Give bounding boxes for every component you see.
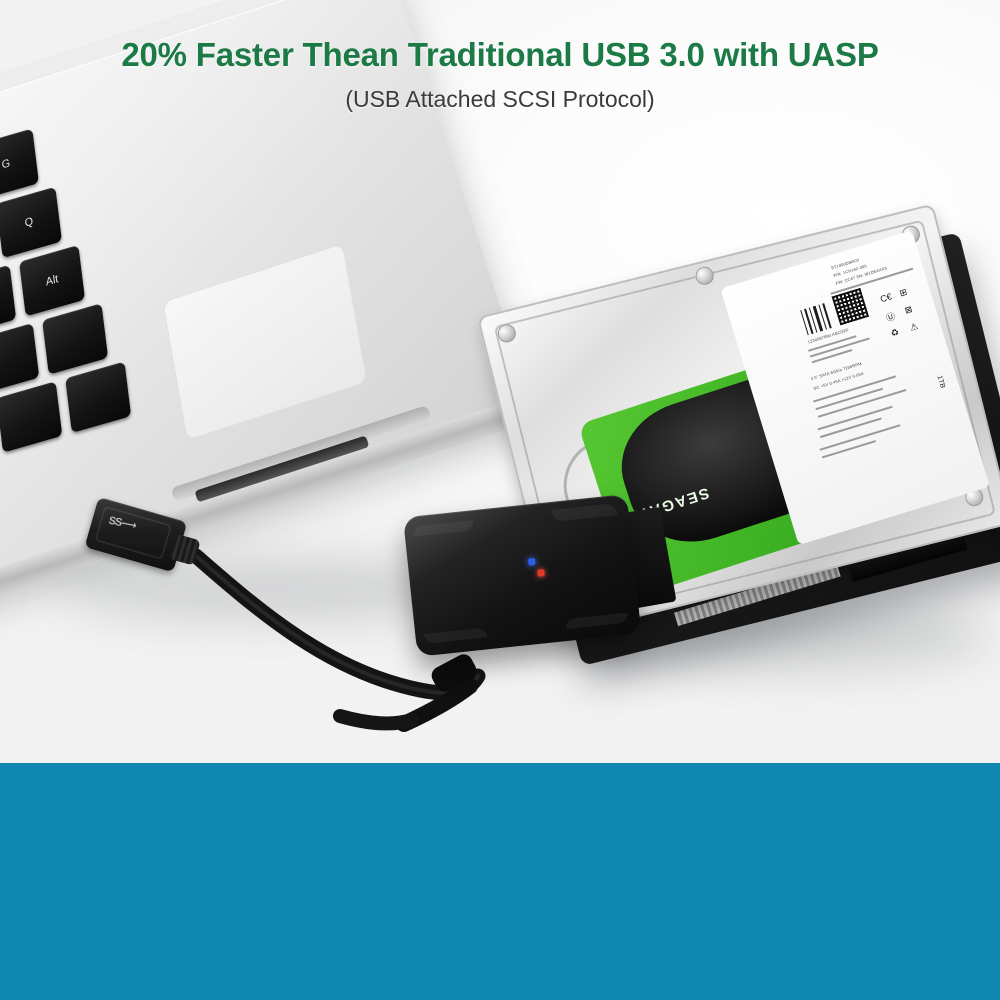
product-marketing-image: BVCXZGFDSAWQTabCapsShiftCtrlFnAlt SS⟶	[0, 0, 1000, 1000]
adapter-power-led	[528, 558, 536, 566]
fcc-mark-icon: ⊞	[898, 287, 908, 300]
warning-mark-icon: ⚠	[909, 321, 920, 334]
weee-mark-icon: ⊠	[903, 304, 913, 317]
usb-connector-inset	[95, 506, 172, 560]
page-subtitle: (USB Attached SCSI Protocol)	[0, 86, 1000, 113]
usb-to-sata-adapter	[403, 493, 651, 701]
keyboard-key[interactable]: Q	[0, 187, 62, 259]
keyboard-key[interactable]	[0, 323, 39, 395]
product-photo: BVCXZGFDSAWQTabCapsShiftCtrlFnAlt SS⟶	[0, 0, 1000, 763]
adapter-activity-led	[537, 569, 545, 577]
keyboard-key[interactable]: Alt	[19, 245, 85, 317]
keyboard-key[interactable]: Fn	[0, 265, 16, 337]
keyboard-key[interactable]	[42, 303, 108, 375]
keyboard-key[interactable]	[65, 362, 131, 434]
rohs-mark-icon: ♻	[890, 327, 901, 340]
adapter-housing	[403, 494, 641, 657]
hdd-capacity-text: 1TB	[936, 375, 946, 389]
keyboard-key[interactable]	[0, 381, 62, 453]
keyboard-key[interactable]: G	[0, 129, 39, 201]
ce-mark-icon: C€	[879, 291, 893, 304]
ul-mark-icon: Ⓤ	[884, 309, 896, 324]
speed-comparison-chart: Read Speeds Write Speeds USB 3	[0, 763, 1000, 1000]
page-title: 20% Faster Thean Traditional USB 3.0 wit…	[0, 36, 1000, 74]
